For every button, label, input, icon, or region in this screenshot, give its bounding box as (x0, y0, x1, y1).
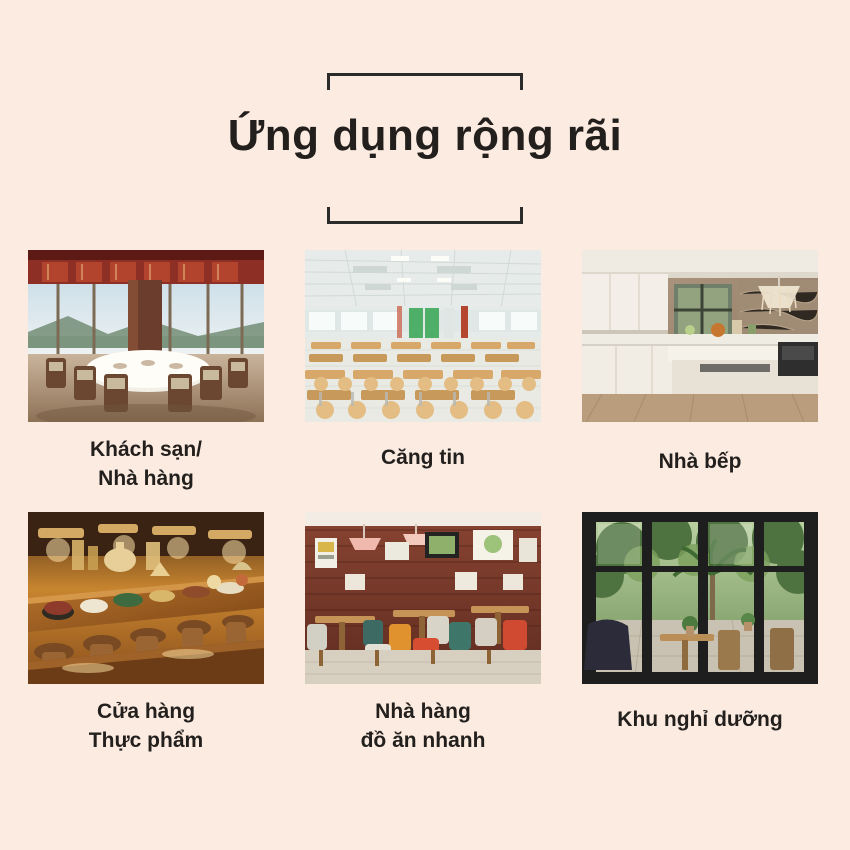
grid-item-caption: Nhà bếp (582, 448, 818, 477)
kitchen-photo (582, 250, 818, 422)
grid-item-food-store: Cửa hàng Thực phẩm (28, 512, 264, 756)
grid-item-caption: Cửa hàng Thực phẩm (28, 698, 264, 756)
grid-item-caption: Nhà hàng đồ ăn nhanh (305, 698, 541, 756)
resort-photo (582, 512, 818, 684)
bracket-bottom-icon (327, 208, 523, 224)
canteen-photo (305, 250, 541, 422)
grid-item-hotel-restaurant: Khách sạn/ Nhà hàng (28, 250, 264, 494)
grid-item-caption: Căng tin (305, 444, 541, 473)
fast-food-restaurant-photo (305, 512, 541, 684)
hotel-restaurant-photo (28, 250, 264, 422)
grid-item-caption: Khách sạn/ Nhà hàng (28, 436, 264, 494)
grid-item-fast-food: Nhà hàng đồ ăn nhanh (305, 512, 541, 756)
grid-item-canteen: Căng tin (305, 250, 541, 494)
poster-root: Ứng dụng rộng rãi (0, 0, 850, 850)
grid-item-resort: Khu nghỉ dưỡng (582, 512, 818, 756)
page-title: Ứng dụng rộng rãi (0, 110, 850, 163)
food-store-photo (28, 512, 264, 684)
grid-item-caption: Khu nghỉ dưỡng (582, 706, 818, 735)
grid-item-kitchen: Nhà bếp (582, 250, 818, 494)
bracket-top-icon (327, 73, 523, 89)
application-grid: Khách sạn/ Nhà hàng (28, 250, 822, 756)
header-block: Ứng dụng rộng rãi (0, 60, 850, 235)
